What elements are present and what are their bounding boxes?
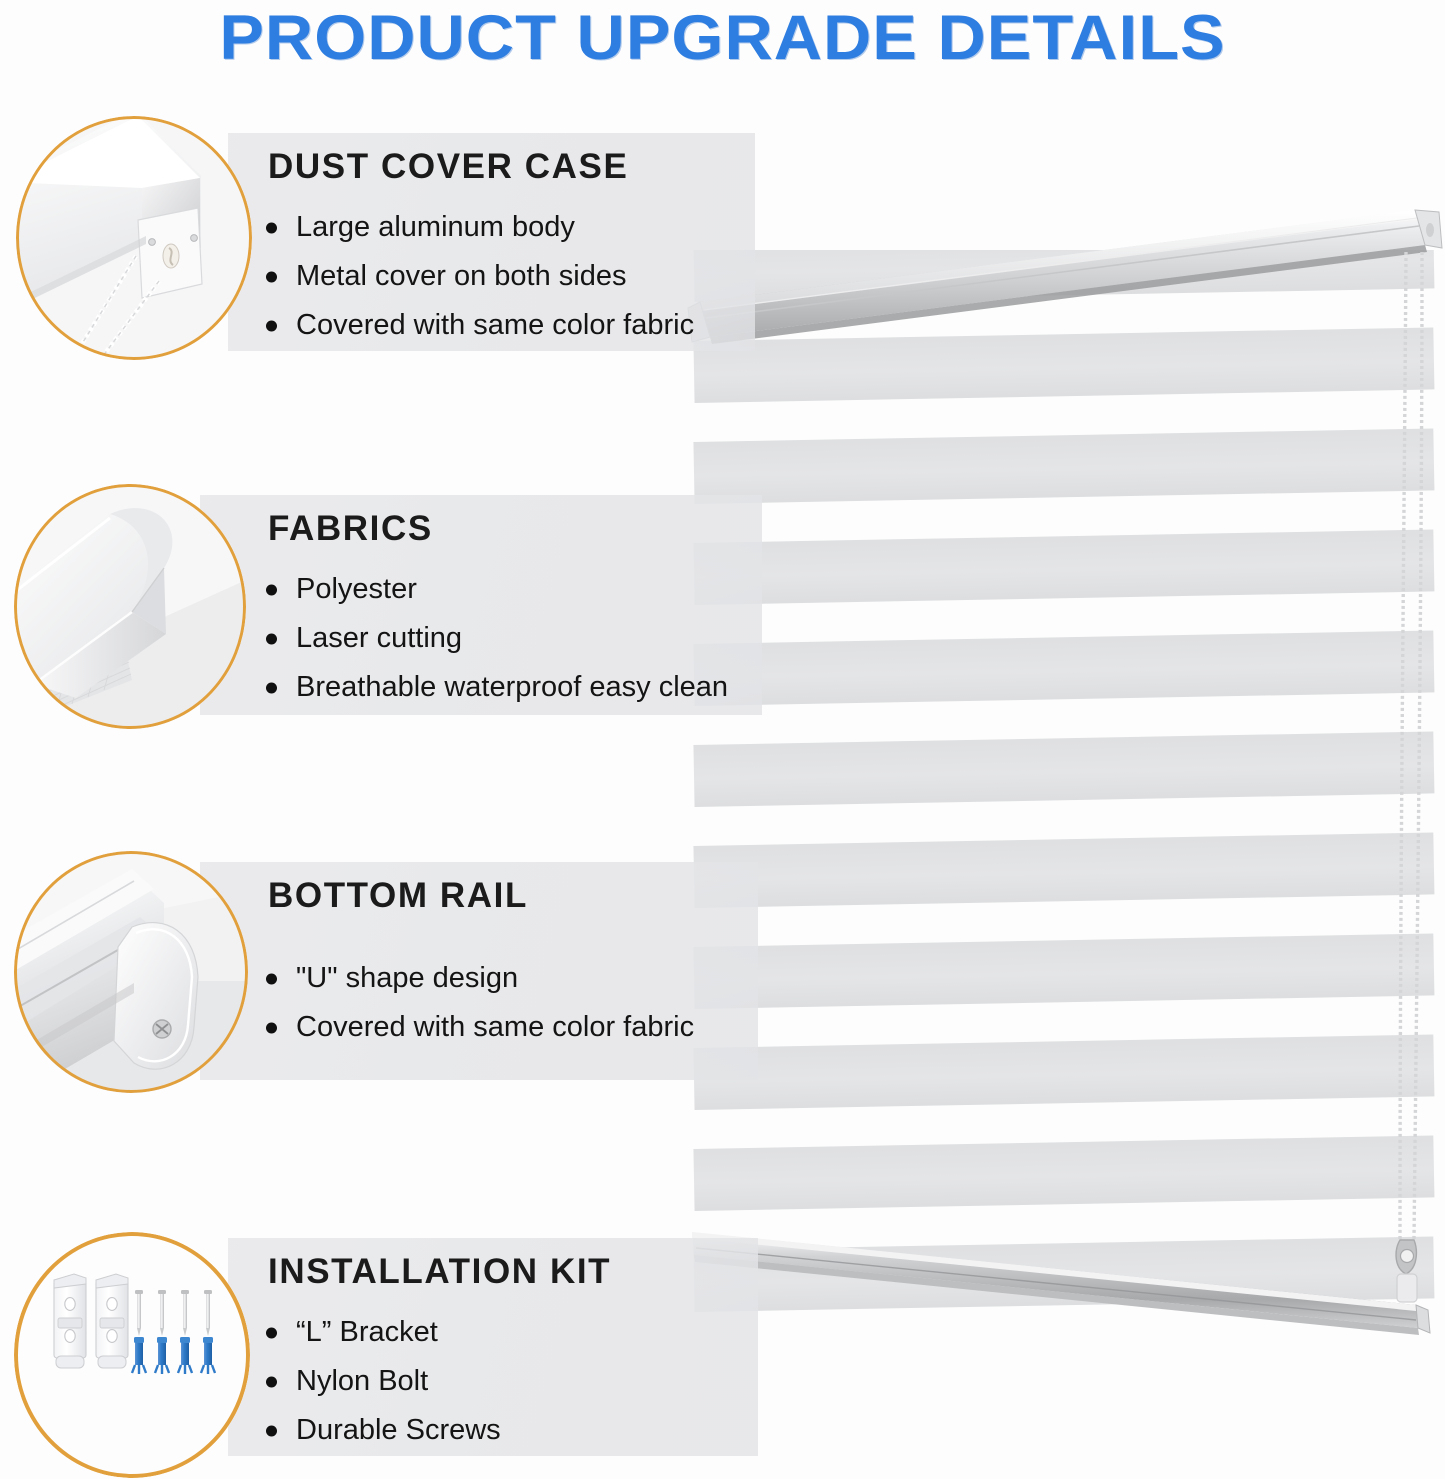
l-bracket [96, 1274, 128, 1368]
bullet-dot-icon [266, 1327, 277, 1338]
list-item: Laser cutting [266, 614, 728, 663]
zebra-roller-blind-image [680, 190, 1445, 1350]
bottom-rail-illustration [14, 851, 248, 1093]
list-item: Metal cover on both sides [266, 252, 694, 301]
list-item: “L” Bracket [266, 1308, 501, 1357]
bullet-dot-icon [266, 1376, 277, 1387]
feature-title: INSTALLATION KIT [268, 1252, 611, 1292]
bullet-dot-icon [266, 682, 277, 693]
fabrics-photo [14, 484, 246, 729]
bullet-dot-icon [266, 271, 277, 282]
bullet-dot-icon [266, 1022, 277, 1033]
l-bracket [54, 1274, 86, 1368]
list-item: Nylon Bolt [266, 1357, 501, 1406]
bullet-text: "U" shape design [296, 962, 518, 994]
list-item: Covered with same color fabric [266, 1003, 694, 1052]
blind-fabric [680, 250, 1445, 1370]
feature-title: FABRICS [268, 509, 433, 549]
infographic-canvas: PRODUCT UPGRADE DETAILS [0, 0, 1445, 1479]
bullet-text: Breathable waterproof easy clean [296, 671, 728, 703]
list-item: Large aluminum body [266, 203, 694, 252]
installation-kit-illustration [14, 1232, 250, 1478]
bullet-dot-icon [266, 1425, 277, 1436]
bullet-text: Nylon Bolt [296, 1365, 428, 1397]
bead-chain [1370, 250, 1445, 1330]
bottom-rail-photo [14, 851, 248, 1093]
bullet-dot-icon [266, 320, 277, 331]
feature-panel-dust-cover-case: DUST COVER CASE Large aluminum body Meta… [228, 133, 755, 351]
bullet-text: Covered with same color fabric [296, 1011, 694, 1043]
feature-bullet-list: Polyester Laser cutting Breathable water… [266, 565, 728, 712]
bullet-dot-icon [266, 973, 277, 984]
list-item: Covered with same color fabric [266, 301, 694, 350]
list-item: Durable Screws [266, 1406, 501, 1455]
list-item: Breathable waterproof easy clean [266, 663, 728, 712]
feature-title: DUST COVER CASE [268, 147, 628, 187]
bullet-text: Large aluminum body [296, 211, 575, 243]
feature-bullet-list: "U" shape design Covered with same color… [266, 954, 694, 1052]
installation-kit-photo [14, 1232, 250, 1478]
page-title: PRODUCT UPGRADE DETAILS [0, 2, 1445, 74]
feature-panel-bottom-rail: BOTTOM RAIL "U" shape design Covered wit… [200, 862, 758, 1080]
list-item: "U" shape design [266, 954, 694, 1003]
bullet-text: Durable Screws [296, 1414, 501, 1446]
feature-bullet-list: Large aluminum body Metal cover on both … [266, 203, 694, 350]
bullet-text: Laser cutting [296, 622, 462, 654]
feature-panel-installation-kit: INSTALLATION KIT “L” Bracket Nylon Bolt … [228, 1238, 758, 1456]
feature-bullet-list: “L” Bracket Nylon Bolt Durable Screws [266, 1308, 501, 1455]
bullet-dot-icon [266, 633, 277, 644]
bullet-text: Polyester [296, 573, 417, 605]
bullet-text: Covered with same color fabric [296, 309, 694, 341]
fabrics-illustration [14, 484, 246, 729]
dust-cover-case-photo [16, 116, 252, 360]
fabric-stripe [693, 250, 1434, 302]
dust-cover-case-illustration [16, 116, 252, 360]
bullet-text: “L” Bracket [296, 1316, 438, 1348]
feature-title: BOTTOM RAIL [268, 876, 528, 916]
bullet-dot-icon [266, 222, 277, 233]
list-item: Polyester [266, 565, 728, 614]
bullet-dot-icon [266, 584, 277, 595]
feature-panel-fabrics: FABRICS Polyester Laser cutting Breathab… [200, 495, 762, 715]
bullet-text: Metal cover on both sides [296, 260, 626, 292]
